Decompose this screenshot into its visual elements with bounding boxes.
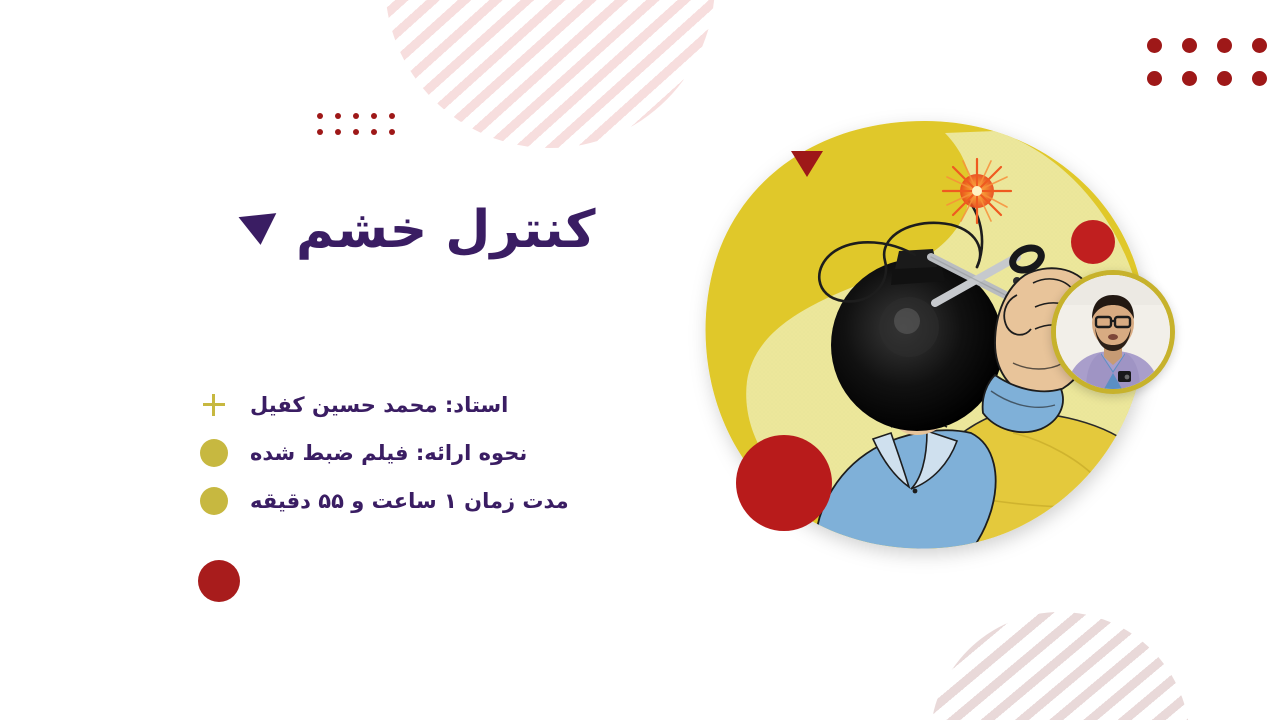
slide-title-block: کنترل خشم [240,163,660,298]
dot [1217,38,1232,53]
red-circle-accent-bottom-left [198,560,240,602]
meta-format-label: نحوه ارائه: فیلم ضبط شده [250,441,527,465]
dot [1182,38,1197,53]
dot [1147,71,1162,86]
dot-icon [200,439,228,467]
dot [1182,71,1197,86]
presenter-video-inset[interactable] [1051,270,1175,394]
presenter-avatar [1056,275,1170,389]
presenter-portrait [1056,275,1170,389]
dot [371,129,377,135]
dot [1252,71,1267,86]
red-circle-accent-large [736,435,832,531]
dot [371,113,377,119]
dot [353,129,359,135]
spark-burst [943,159,1011,223]
striped-circle-decor-top [385,0,715,148]
striped-circle-decor-bottom [930,612,1190,720]
list-item: نحوه ارائه: فیلم ضبط شده [200,436,640,470]
meta-duration-label: مدت زمان ۱ ساعت و ۵۵ دقیقه [250,489,569,513]
course-meta-list: استاد: محمد حسین کفیل نحوه ارائه: فیلم ض… [200,388,640,518]
page-title: کنترل خشم [296,198,595,263]
dot [1147,38,1162,53]
dot [389,113,395,119]
dot [389,129,395,135]
dot-grid-top-right [1127,38,1280,104]
dot [335,129,341,135]
slide-canvas: کنترل خشم استاد: محمد حسین کفیل نحوه ارا… [0,0,1280,720]
plus-icon [200,391,228,419]
dot [335,113,341,119]
triangle-down-icon [239,213,280,247]
dot [317,113,323,119]
list-item: استاد: محمد حسین کفیل [200,388,640,422]
dot-grid-left [305,113,395,145]
red-circle-accent-small [1071,220,1115,264]
dot-icon [200,487,228,515]
dot [1252,38,1267,53]
dot [353,113,359,119]
list-item: مدت زمان ۱ ساعت و ۵۵ دقیقه [200,484,640,518]
meta-instructor-label: استاد: محمد حسین کفیل [250,393,508,417]
dot [1217,71,1232,86]
dot [317,129,323,135]
